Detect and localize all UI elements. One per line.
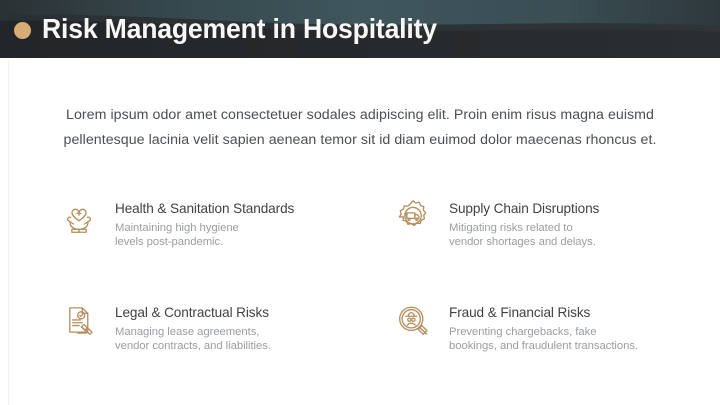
feature-item-supply-chain: Supply Chain Disruptions Mitigating risk…	[390, 193, 668, 297]
feature-title: Supply Chain Disruptions	[449, 200, 599, 218]
delivery-truck-badge-icon	[390, 193, 436, 244]
slide-header: Risk Management in Hospitality	[0, 0, 720, 58]
feature-title: Health & Sanitation Standards	[115, 200, 294, 218]
feature-item-legal-contractual: Legal & Contractual Risks Managing lease…	[56, 297, 390, 401]
bullet-dot-icon	[14, 22, 31, 39]
contract-document-gavel-icon	[56, 297, 102, 348]
magnifier-detective-icon	[390, 297, 436, 348]
page-title: Risk Management in Hospitality	[42, 15, 437, 43]
slide-canvas: Risk Management in Hospitality Lorem ips…	[0, 0, 720, 405]
feature-description: Managing lease agreements, vendor contra…	[115, 325, 271, 353]
feature-description: Maintaining high hygiene levels post-pan…	[115, 221, 294, 249]
left-edge-rule	[8, 60, 9, 405]
intro-paragraph: Lorem ipsum odor amet consectetuer sodal…	[36, 103, 684, 153]
feature-title: Legal & Contractual Risks	[115, 304, 271, 322]
feature-description: Mitigating risks related to vendor short…	[449, 221, 599, 249]
feature-item-fraud-financial: Fraud & Financial Risks Preventing charg…	[390, 297, 668, 401]
feature-item-health-sanitation: Health & Sanitation Standards Maintainin…	[56, 193, 390, 297]
feature-description: Preventing chargebacks, fake bookings, a…	[449, 325, 638, 353]
hands-holding-heart-cross-icon	[56, 193, 102, 244]
feature-title: Fraud & Financial Risks	[449, 304, 638, 322]
feature-grid: Health & Sanitation Standards Maintainin…	[56, 193, 668, 401]
